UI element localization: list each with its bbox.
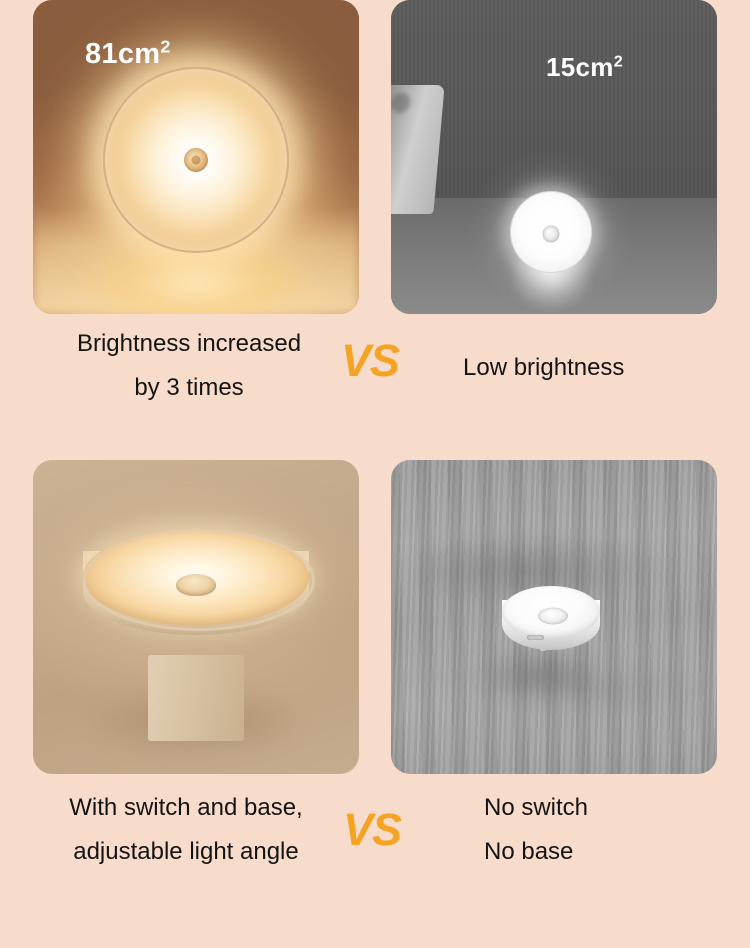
wood-grain-background bbox=[391, 460, 717, 774]
vs-badge-switch-and-base: VS bbox=[343, 807, 401, 852]
caption-band-brightness: Brightness increased by 3 times VS Low b… bbox=[0, 314, 750, 470]
caption-line: No switch bbox=[484, 786, 588, 830]
comparison-block-switch-and-base: With switch and base, adjustable light a… bbox=[0, 460, 750, 948]
photo-pair-brightness: 81cm2 15cm2 bbox=[0, 0, 750, 314]
lamp-base-stand bbox=[148, 655, 244, 741]
grey-scene-background bbox=[391, 0, 717, 314]
product-photo-bright-lamp: 81cm2 bbox=[33, 0, 359, 314]
lamp-disc-lit bbox=[83, 529, 309, 649]
product-photo-lamp-with-base bbox=[33, 460, 359, 774]
vs-badge-brightness: VS bbox=[341, 338, 399, 383]
caption-line: adjustable light angle bbox=[30, 830, 342, 874]
motion-sensor-dome-icon bbox=[538, 607, 568, 624]
motion-sensor-dome-icon bbox=[542, 225, 559, 242]
round-lamp-lit bbox=[103, 67, 289, 253]
floor-light-pool bbox=[79, 245, 314, 314]
product-photo-puck-no-base bbox=[391, 460, 717, 774]
caption-left-brightness: Brightness increased by 3 times bbox=[44, 322, 334, 410]
caption-line: With switch and base, bbox=[30, 786, 342, 830]
coverage-area-badge-right: 15cm2 bbox=[546, 52, 623, 83]
round-lamp-dim bbox=[510, 191, 592, 273]
beige-scene-background bbox=[33, 460, 359, 774]
caption-line: Low brightness bbox=[463, 346, 624, 390]
photo-pair-switch-and-base bbox=[0, 460, 750, 774]
indicator-led-icon bbox=[540, 647, 546, 651]
product-photo-dim-lamp: 15cm2 bbox=[391, 0, 717, 314]
motion-sensor-dome-icon bbox=[176, 574, 216, 596]
caption-line: Brightness increased bbox=[44, 322, 334, 366]
caption-right-switch-and-base: No switch No base bbox=[484, 786, 588, 874]
caption-line: No base bbox=[484, 830, 588, 874]
caption-band-switch-and-base: With switch and base, adjustable light a… bbox=[0, 774, 750, 930]
charging-port-icon bbox=[527, 635, 544, 640]
motion-sensor-dome-icon bbox=[184, 148, 208, 172]
comparison-block-brightness: 81cm2 15cm2 bbox=[0, 0, 750, 470]
caption-right-brightness: Low brightness bbox=[463, 346, 624, 390]
puck-light-unlit bbox=[502, 586, 600, 660]
coverage-area-badge-left: 81cm2 bbox=[85, 38, 171, 71]
product-comparison-page: 81cm2 15cm2 bbox=[0, 0, 750, 948]
caption-line: by 3 times bbox=[44, 366, 334, 410]
caption-left-switch-and-base: With switch and base, adjustable light a… bbox=[30, 786, 342, 874]
warm-scene-background bbox=[33, 0, 359, 314]
